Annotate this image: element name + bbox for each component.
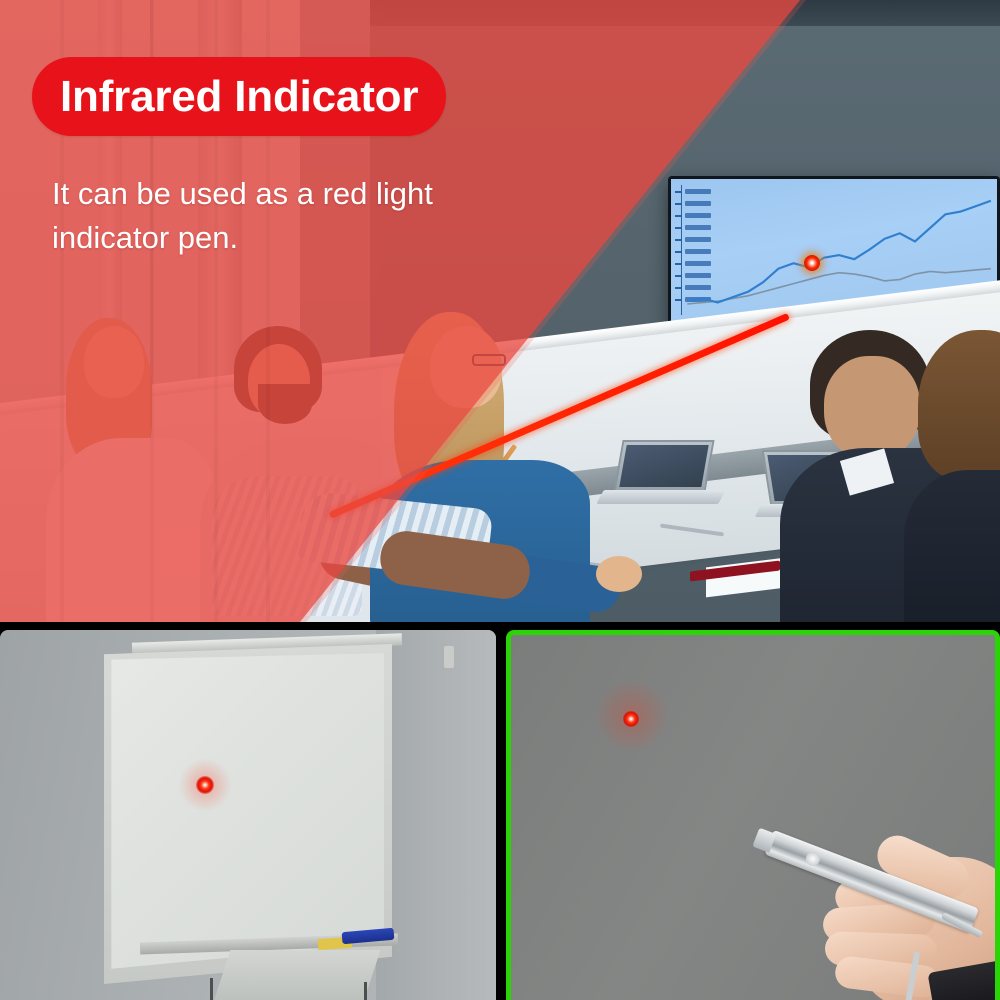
whiteboard <box>92 638 392 990</box>
whiteboard-surface <box>100 650 384 972</box>
laptop-1 <box>600 440 710 510</box>
stand-leg-left <box>210 978 213 1000</box>
laser-dot-on-wall <box>623 711 639 727</box>
laser-dot-on-whiteboard <box>196 776 214 794</box>
product-image-stage: Infrared Indicator It can be used as a r… <box>0 0 1000 1000</box>
panel-divider-vertical <box>496 622 506 1000</box>
title-text: Infrared Indicator <box>60 75 418 119</box>
stand-leg-right <box>364 982 367 1000</box>
title-badge: Infrared Indicator <box>32 57 446 136</box>
bottom-left-panel-whiteboard <box>0 630 496 1000</box>
top-panel-conference-scene: Infrared Indicator It can be used as a r… <box>0 0 1000 622</box>
attendee-6 <box>912 330 1000 622</box>
gray-wall-background <box>511 635 995 1000</box>
lower-shelf <box>214 950 381 1000</box>
bottom-right-panel-pen-in-hand <box>506 630 1000 1000</box>
subtitle-text: It can be used as a red light indicator … <box>52 172 522 260</box>
whiteboard-bracket <box>444 646 454 668</box>
